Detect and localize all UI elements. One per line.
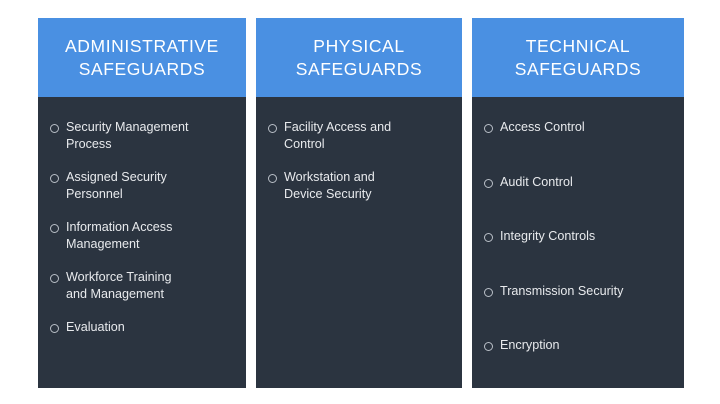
circle-outline-icon [50, 324, 59, 333]
list-item-label: Transmission Security [500, 283, 670, 300]
safeguard-list-administrative: Security Management Process Assigned Sec… [50, 119, 232, 336]
column-header-technical: TECHNICAL SAFEGUARDS [472, 18, 684, 97]
circle-outline-icon [484, 288, 493, 297]
list-item[interactable]: Access Control [484, 119, 670, 136]
list-item[interactable]: Workforce Training and Management [50, 269, 232, 302]
list-item-label: Audit Control [500, 174, 670, 191]
column-physical-safeguards: PHYSICAL SAFEGUARDS Facility Access and … [256, 18, 462, 388]
list-item-label: Assigned Security Personnel [66, 169, 232, 202]
circle-outline-icon [484, 342, 493, 351]
list-item-label: Evaluation [66, 319, 232, 336]
column-administrative-safeguards: ADMINISTRATIVE SAFEGUARDS Security Manag… [38, 18, 246, 388]
list-item[interactable]: Security Management Process [50, 119, 232, 152]
list-item-label: Integrity Controls [500, 228, 670, 245]
list-item-label: Workforce Training and Management [66, 269, 232, 302]
list-item-label: Information Access Management [66, 219, 232, 252]
circle-outline-icon [484, 124, 493, 133]
list-item[interactable]: Audit Control [484, 174, 670, 191]
column-header-administrative: ADMINISTRATIVE SAFEGUARDS [38, 18, 246, 97]
list-item[interactable]: Facility Access and Control [268, 119, 448, 152]
safeguards-board: ADMINISTRATIVE SAFEGUARDS Security Manag… [38, 18, 684, 388]
list-item[interactable]: Encryption [484, 337, 670, 354]
list-item-label: Security Management Process [66, 119, 232, 152]
list-item[interactable]: Information Access Management [50, 219, 232, 252]
list-item[interactable]: Assigned Security Personnel [50, 169, 232, 202]
circle-outline-icon [50, 124, 59, 133]
circle-outline-icon [268, 124, 277, 133]
safeguard-list-physical: Facility Access and Control Workstation … [268, 119, 448, 202]
column-body-physical: Facility Access and Control Workstation … [256, 97, 462, 388]
list-item-label: Workstation and Device Security [284, 169, 448, 202]
column-title: TECHNICAL SAFEGUARDS [515, 35, 642, 81]
list-item[interactable]: Integrity Controls [484, 228, 670, 245]
safeguard-list-technical: Access Control Audit Control Integrity C… [484, 119, 670, 354]
column-title: PHYSICAL SAFEGUARDS [296, 35, 423, 81]
list-item[interactable]: Transmission Security [484, 283, 670, 300]
circle-outline-icon [484, 179, 493, 188]
circle-outline-icon [50, 274, 59, 283]
column-technical-safeguards: TECHNICAL SAFEGUARDS Access Control Audi… [472, 18, 684, 388]
column-title: ADMINISTRATIVE SAFEGUARDS [65, 35, 219, 81]
column-body-technical: Access Control Audit Control Integrity C… [472, 97, 684, 388]
circle-outline-icon [268, 174, 277, 183]
list-item-label: Facility Access and Control [284, 119, 448, 152]
circle-outline-icon [50, 224, 59, 233]
column-body-administrative: Security Management Process Assigned Sec… [38, 97, 246, 388]
list-item-label: Access Control [500, 119, 670, 136]
circle-outline-icon [50, 174, 59, 183]
list-item-label: Encryption [500, 337, 670, 354]
circle-outline-icon [484, 233, 493, 242]
column-header-physical: PHYSICAL SAFEGUARDS [256, 18, 462, 97]
list-item[interactable]: Workstation and Device Security [268, 169, 448, 202]
list-item[interactable]: Evaluation [50, 319, 232, 336]
